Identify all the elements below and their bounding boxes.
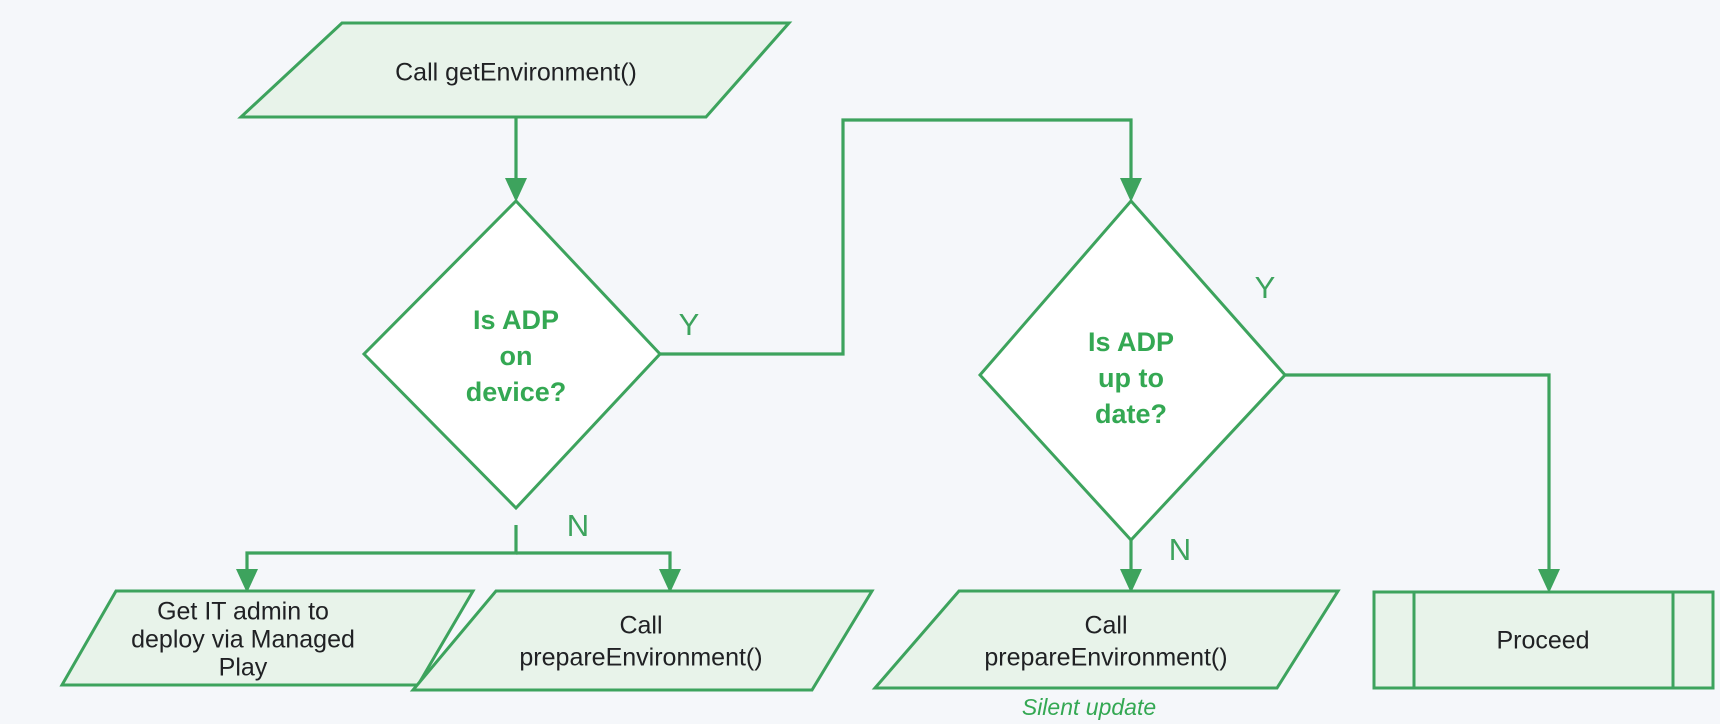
- arrowhead-icon: [659, 569, 681, 593]
- decision-label-line2: up to: [1098, 363, 1164, 393]
- parallelogram-shape: [413, 591, 872, 690]
- node-label-line1: Call: [1084, 612, 1127, 640]
- decision-label-line2: on: [500, 341, 533, 371]
- decision-label-line1: Is ADP: [473, 305, 559, 335]
- arrowhead-icon: [1120, 178, 1142, 202]
- flowchart-canvas: Call getEnvironment() Is ADP on device? …: [0, 0, 1720, 724]
- node-call-get-environment[interactable]: Call getEnvironment(): [241, 23, 789, 117]
- node-label-call-get-environment: Call getEnvironment(): [395, 59, 637, 87]
- edge-label-uptodate-no: N: [1169, 532, 1191, 567]
- arrowhead-icon: [1120, 569, 1142, 593]
- node-decision-adp-on-device[interactable]: Is ADP on device?: [364, 201, 660, 508]
- node-label-line3: Play: [219, 654, 268, 682]
- edge-uptodate-yes-to-proceed: [1285, 375, 1560, 593]
- node-label-proceed: Proceed: [1496, 627, 1589, 655]
- decision-label-line1: Is ADP: [1088, 327, 1174, 357]
- node-decision-adp-up-to-date[interactable]: Is ADP up to date?: [980, 201, 1285, 540]
- edge-label-device-no: N: [567, 508, 589, 543]
- node-get-it-admin-deploy[interactable]: Get IT admin to deploy via Managed Play: [62, 591, 473, 685]
- decision-label-line3: device?: [466, 377, 567, 407]
- edge-uptodate-no-to-prepare-env: [1120, 540, 1142, 593]
- edge-label-device-yes: Y: [679, 307, 700, 342]
- edge-start-to-device-decision: [505, 118, 527, 202]
- arrowhead-icon: [1538, 569, 1560, 593]
- node-call-prepare-environment-right[interactable]: Call prepareEnvironment(): [875, 591, 1338, 688]
- node-label-line2: prepareEnvironment(): [519, 644, 762, 672]
- node-label-line2: deploy via Managed: [131, 626, 355, 654]
- arrowhead-icon: [236, 569, 258, 593]
- node-label-line2: prepareEnvironment(): [984, 644, 1227, 672]
- decision-label-line3: date?: [1095, 399, 1167, 429]
- arrowhead-icon: [505, 178, 527, 202]
- annotation-silent-update: Silent update: [1022, 694, 1156, 720]
- edge-device-no-to-outputs: [236, 525, 681, 593]
- node-call-prepare-environment-left[interactable]: Call prepareEnvironment(): [413, 591, 872, 690]
- node-label-line1: Get IT admin to: [157, 598, 329, 626]
- flowchart-svg: Call getEnvironment() Is ADP on device? …: [0, 0, 1720, 724]
- node-label-line1: Call: [619, 612, 662, 640]
- node-proceed[interactable]: Proceed: [1374, 592, 1713, 688]
- edge-label-uptodate-yes: Y: [1255, 270, 1276, 305]
